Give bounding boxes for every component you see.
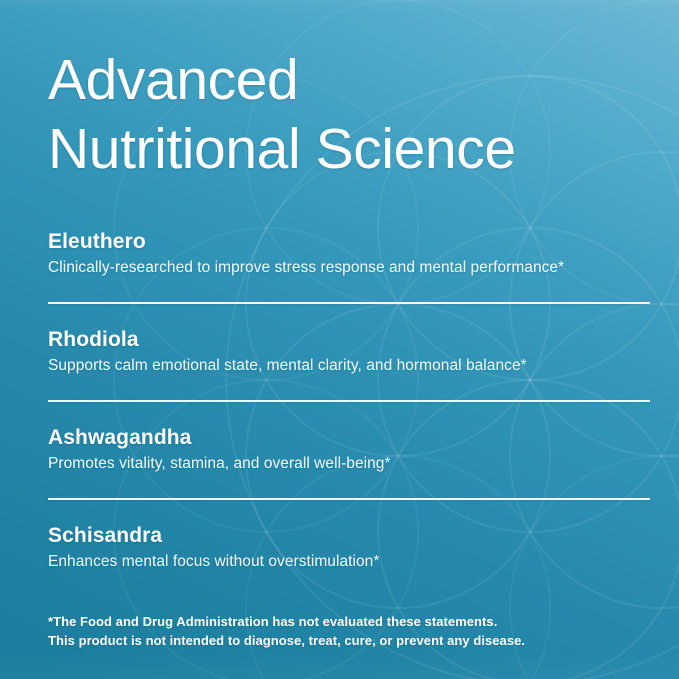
ingredient-divider [48, 302, 650, 304]
ingredient-name: Schisandra [48, 522, 650, 549]
ingredient-divider [48, 400, 650, 402]
fda-disclaimer: *The Food and Drug Administration has no… [48, 612, 648, 650]
ingredient-name: Rhodiola [48, 326, 650, 353]
ingredient-name: Eleuthero [48, 228, 650, 255]
ingredient-divider [48, 498, 650, 500]
ingredient-description: Promotes vitality, stamina, and overall … [48, 453, 650, 475]
ingredient-item-schisandra: Schisandra Enhances mental focus without… [48, 522, 650, 573]
product-info-panel: Advanced Nutritional Science Eleuthero C… [0, 0, 679, 679]
ingredient-description: Supports calm emotional state, mental cl… [48, 355, 650, 377]
ingredient-description: Enhances mental focus without overstimul… [48, 551, 650, 573]
panel-content: Advanced Nutritional Science Eleuthero C… [0, 0, 679, 679]
ingredient-item-eleuthero: Eleuthero Clinically-researched to impro… [48, 228, 650, 304]
ingredient-name: Ashwagandha [48, 424, 650, 451]
ingredient-description: Clinically-researched to improve stress … [48, 257, 650, 279]
ingredient-item-ashwagandha: Ashwagandha Promotes vitality, stamina, … [48, 424, 650, 500]
ingredient-item-rhodiola: Rhodiola Supports calm emotional state, … [48, 326, 650, 402]
ingredient-list: Eleuthero Clinically-researched to impro… [48, 228, 650, 573]
page-title: Advanced Nutritional Science [48, 46, 648, 184]
